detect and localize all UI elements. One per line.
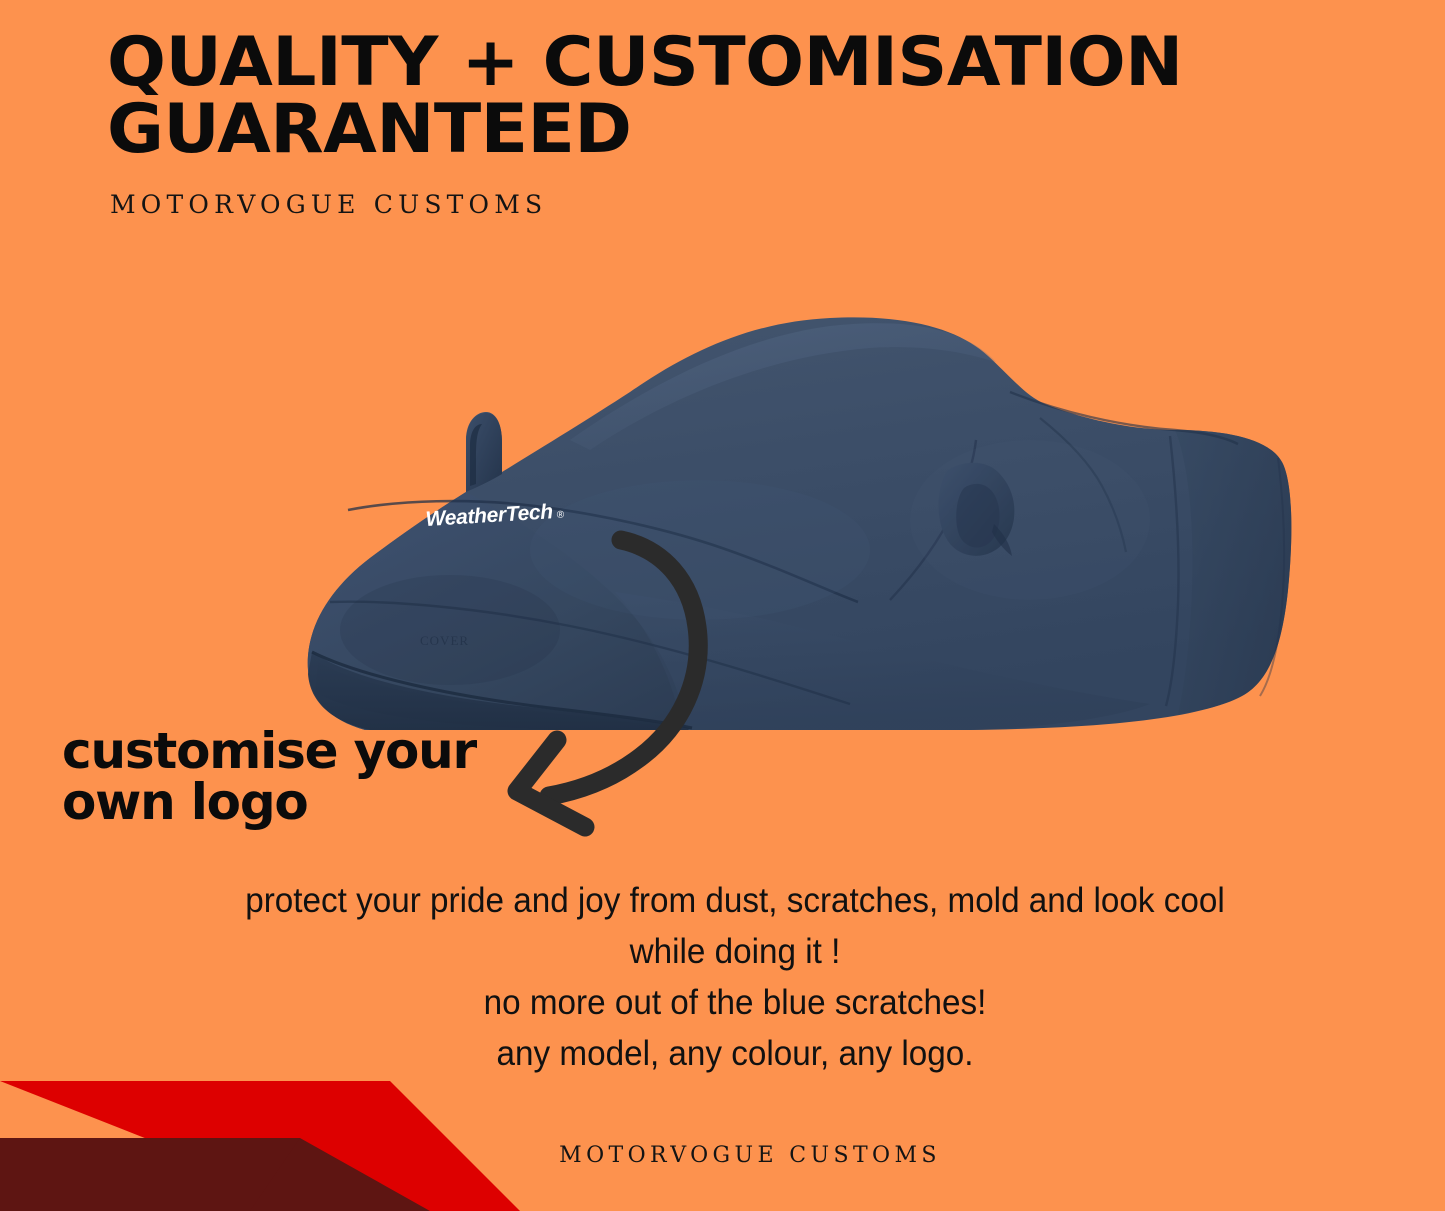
cover-shadow-a [340, 575, 560, 685]
weathertech-logo-mark: ® [557, 510, 566, 521]
poster-canvas: QUALITY + CUSTOMISATION GUARANTEED MOTOR… [0, 0, 1445, 1211]
footer-shape-maroon-inner [0, 1138, 300, 1211]
body-copy: protect your pride and joy from dust, sc… [132, 875, 1339, 1079]
car-cover-illustration: WeatherTech ® COVER [270, 300, 1300, 730]
footer-brand: MOTORVOGUE CUSTOMS [540, 1143, 960, 1168]
cover-highlight-b [910, 440, 1150, 600]
page-title: QUALITY + CUSTOMISATION GUARANTEED [107, 30, 1229, 163]
callout-text: customise your own logo [62, 726, 582, 828]
cover-hem-label: COVER [420, 633, 469, 648]
cover-highlight-a [530, 480, 870, 620]
footer-decoration [0, 1076, 620, 1211]
brand-subtitle: MOTORVOGUE CUSTOMS [110, 190, 547, 219]
cover-rear-panel [1175, 430, 1291, 714]
